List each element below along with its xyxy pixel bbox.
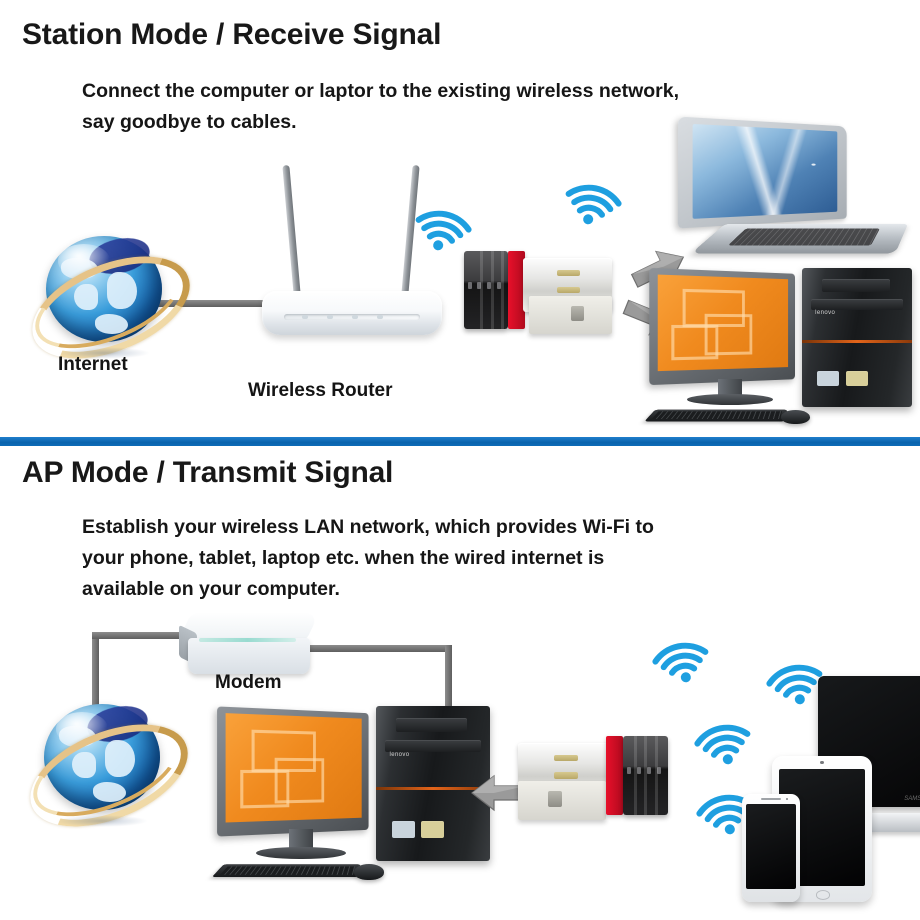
- section-body-ap-mode: Establish your wireless LAN network, whi…: [82, 512, 654, 605]
- tower-port-bay: [822, 279, 890, 292]
- wireless-router-icon: [262, 165, 442, 335]
- body-line: Establish your wireless LAN network, whi…: [82, 512, 654, 543]
- silver-laptop-icon: [672, 122, 902, 262]
- label-modem: Modem: [215, 672, 282, 694]
- tower-orange-stripe: [802, 340, 912, 343]
- lenovo-desktop-pc-icon: lenovo: [218, 706, 490, 882]
- phone-screen: [746, 804, 796, 889]
- monitor-screen: [225, 713, 361, 822]
- wifi-signal-icon: [642, 620, 717, 695]
- monitor-frame: [217, 706, 368, 836]
- monitor-foot: [687, 394, 773, 405]
- keyboard: [212, 864, 361, 877]
- laptop-keyboard: [728, 229, 880, 246]
- tower-sticker: [817, 371, 839, 386]
- phone-speaker: [761, 798, 782, 800]
- section-title-station-mode: Station Mode / Receive Signal: [22, 18, 441, 52]
- section-body-station-mode: Connect the computer or laptor to the ex…: [82, 76, 679, 138]
- modem-front: [188, 638, 311, 674]
- tower-port-bay: [396, 718, 467, 732]
- tower-optical-drive: [811, 299, 903, 310]
- pc-tower: lenovo: [802, 268, 912, 407]
- phone-camera: [786, 798, 789, 800]
- modem-icon: [176, 612, 322, 674]
- body-line: Connect the computer or laptor to the ex…: [82, 76, 679, 107]
- tablet-home-button: [816, 890, 830, 899]
- section-title-ap-mode: AP Mode / Transmit Signal: [22, 456, 393, 490]
- monitor-frame: [649, 268, 795, 385]
- wifi-signal-icon: [558, 162, 633, 237]
- tower-sticker: [392, 821, 415, 838]
- router-led: [377, 315, 383, 319]
- smartphone-icon: [742, 794, 800, 902]
- cable-modem-to-pc: [310, 645, 452, 652]
- laptop-base: [691, 224, 908, 253]
- tower-brand-logo: lenovo: [389, 752, 409, 758]
- globe-internet-icon: [28, 222, 180, 362]
- lenovo-desktop-pc-icon: lenovo: [650, 268, 912, 426]
- adapter-usb-shell: [529, 296, 612, 334]
- modem-leds: [199, 638, 295, 642]
- router-led: [327, 315, 333, 319]
- modem-top: [178, 612, 320, 641]
- laptop-screen: [692, 124, 837, 219]
- monitor-foot: [256, 847, 346, 859]
- section-divider: [0, 437, 920, 446]
- usb-wifi-adapter-icon: [518, 732, 670, 820]
- tower-brand-logo: lenovo: [815, 310, 835, 316]
- router-antenna: [282, 165, 300, 295]
- keyboard: [645, 410, 788, 421]
- mouse: [781, 410, 810, 424]
- infographic-page: Station Mode / Receive Signal Connect th…: [0, 0, 920, 920]
- tower-sticker: [846, 371, 868, 386]
- body-line: available on your computer.: [82, 574, 654, 605]
- router-led: [352, 315, 358, 319]
- usb-wifi-adapter-icon: [464, 248, 612, 334]
- globe-shadow: [56, 815, 147, 828]
- router-led: [302, 315, 308, 319]
- router-body: [262, 291, 442, 335]
- mouse: [354, 864, 384, 880]
- adapter-body-red: [606, 736, 623, 815]
- adapter-usb-shell: [518, 781, 606, 820]
- body-line: say goodbye to cables.: [82, 107, 679, 138]
- tower-sticker: [421, 821, 444, 838]
- laptop-lid: [678, 117, 847, 229]
- monitor-screen: [657, 274, 788, 372]
- globe-internet-icon: [26, 690, 178, 830]
- body-line: your phone, tablet, laptop etc. when the…: [82, 543, 654, 574]
- tower-optical-drive: [385, 740, 481, 752]
- tablet-camera: [820, 761, 824, 765]
- label-internet: Internet: [58, 354, 128, 376]
- label-wireless-router: Wireless Router: [248, 380, 393, 402]
- wifi-signal-icon: [684, 702, 759, 777]
